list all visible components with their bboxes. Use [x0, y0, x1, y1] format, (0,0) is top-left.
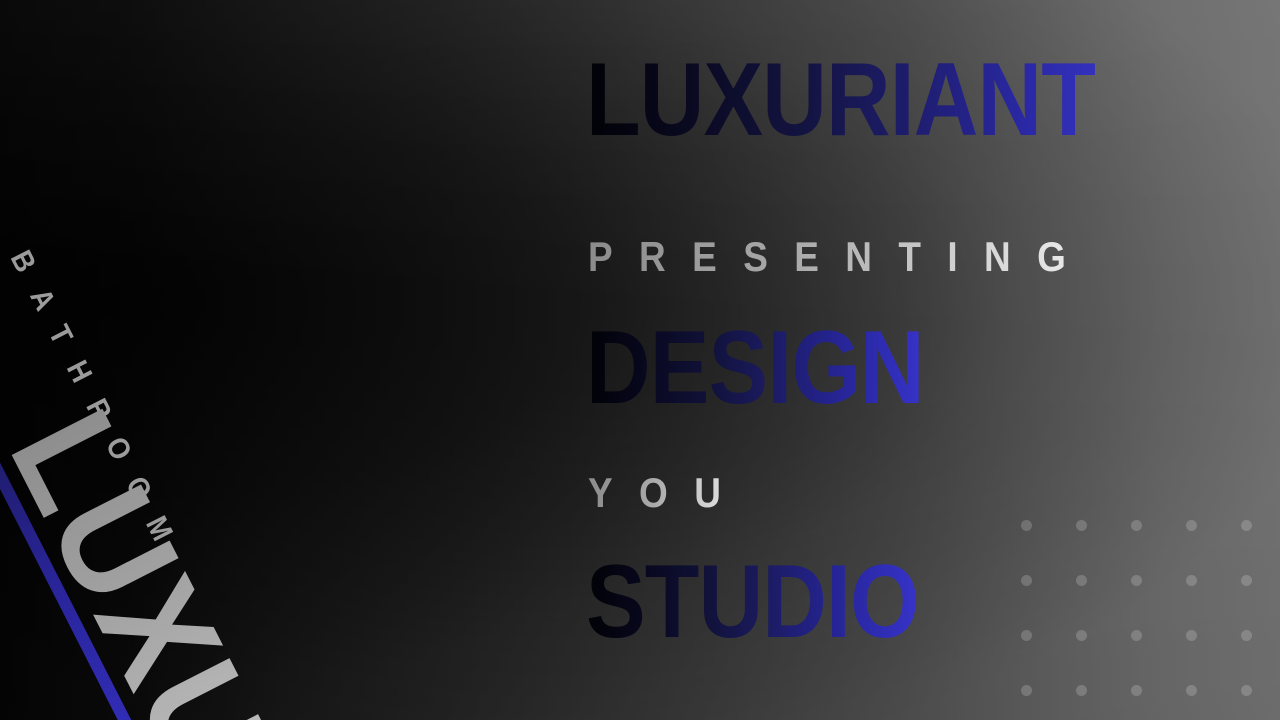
headline-presenting: PRESENTING [588, 236, 1092, 278]
grid-dot [1131, 685, 1142, 696]
grid-dot [1186, 685, 1197, 696]
grid-dot [1241, 685, 1252, 696]
headline-row-1: LUXURIANT [586, 48, 1178, 152]
slide-canvas: BATHROOM LUXURY LUXURIANT PRESENTING DES… [0, 0, 1280, 720]
grid-dot [1076, 520, 1087, 531]
grid-dot [1021, 685, 1032, 696]
headline-row-2: PRESENTING [588, 236, 1161, 278]
grid-dot [1131, 575, 1142, 586]
grid-dot [1186, 520, 1197, 531]
grid-dot [1021, 630, 1032, 641]
grid-dot [1241, 520, 1252, 531]
headline-studio: STUDIO [586, 550, 919, 654]
grid-dot [1076, 575, 1087, 586]
grid-dot [1241, 575, 1252, 586]
grid-dot [1021, 575, 1032, 586]
grid-dot [1076, 685, 1087, 696]
grid-dot [1186, 575, 1197, 586]
headline-row-5: STUDIO [586, 550, 973, 654]
grid-dot [1076, 630, 1087, 641]
grid-dot [1131, 630, 1142, 641]
headline-you: YOU [588, 472, 747, 514]
headline-row-4: YOU [588, 472, 769, 514]
grid-dot [1186, 630, 1197, 641]
headline-row-3: DESIGN [586, 316, 979, 420]
dot-grid-decoration [1021, 520, 1280, 720]
grid-dot [1241, 630, 1252, 641]
headline-design: DESIGN [586, 316, 924, 420]
grid-dot [1021, 520, 1032, 531]
grid-dot [1131, 520, 1142, 531]
headline-luxuriant: LUXURIANT [586, 48, 1095, 152]
